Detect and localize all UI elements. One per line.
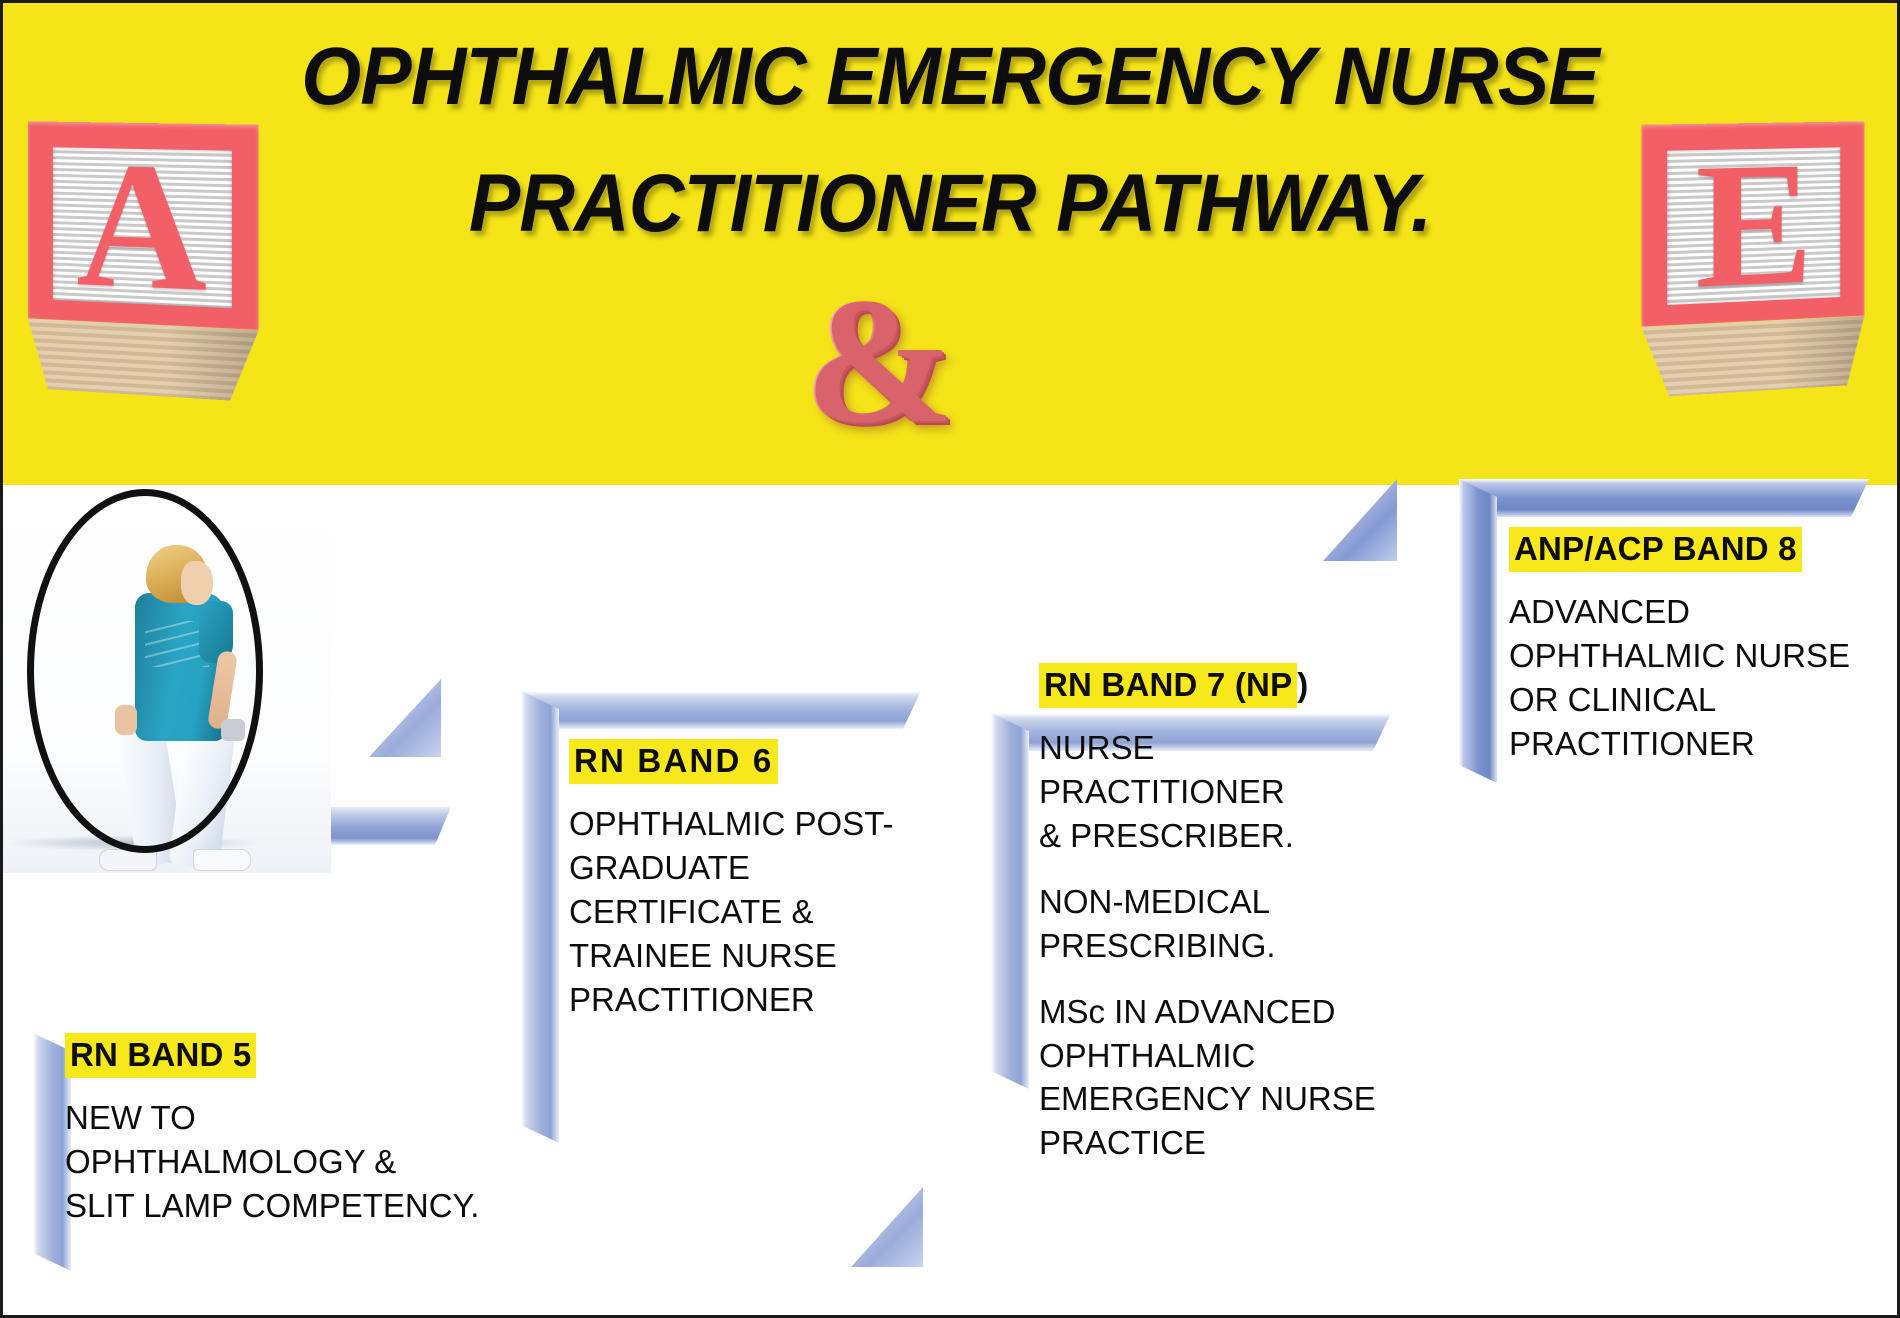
band-7-body-3: MSc IN ADVANCED OPHTHALMIC EMERGENCY NUR… — [1039, 990, 1399, 1166]
nurse-highlight-ellipse — [27, 489, 263, 853]
nurse-shoe-right — [193, 849, 251, 871]
band-7-body-1: NURSE PRACTITIONER & PRESCRIBER. — [1039, 726, 1399, 858]
band-5-label: RN BAND 5 — [65, 1033, 256, 1078]
band-6-bracket-left-arm — [521, 691, 559, 1143]
block-a-face: A — [28, 121, 259, 330]
band-7-label-row: RN BAND 7 (NP) — [1039, 663, 1399, 708]
band-7-bracket-left-arm — [991, 713, 1029, 1089]
block-a-inner-panel: A — [52, 147, 232, 308]
step-band-8: ANP/ACP BAND 8 ADVANCED OPHTHALMIC NURSE… — [1509, 527, 1879, 766]
step-band-7: RN BAND 7 (NP) NURSE PRACTITIONER & PRES… — [1039, 663, 1399, 1165]
block-e-inner-panel: E — [1667, 147, 1841, 305]
band-8-bracket-top-arm — [1459, 479, 1869, 517]
band-7-body-2: NON-MEDICAL PRESCRIBING. — [1039, 880, 1399, 968]
riser-triangle-1 — [369, 679, 441, 757]
band-8-body: ADVANCED OPHTHALMIC NURSE OR CLINICAL PR… — [1509, 590, 1879, 766]
pathway-body: RN BAND 5 NEW TO OPHTHALMOLOGY & SLIT LA… — [3, 485, 1897, 1318]
block-e-letter: E — [1695, 151, 1813, 301]
toy-block-a-icon: A — [28, 121, 259, 402]
block-a-letter: A — [76, 151, 207, 305]
band-5-body: NEW TO OPHTHALMOLOGY & SLIT LAMP COMPETE… — [65, 1096, 495, 1228]
band-6-bracket-top-arm — [521, 691, 921, 729]
step-band-6: RN BAND 6 OPHTHALMIC POST- GRADUATE CERT… — [569, 739, 929, 1022]
page-title: OPHTHALMIC EMERGENCY NURSE PRACTITIONER … — [60, 3, 1840, 267]
block-e-wood-side — [1641, 316, 1864, 398]
band-8-label: ANP/ACP BAND 8 — [1509, 527, 1802, 572]
band-7-label-tail: ) — [1297, 666, 1308, 703]
step-band-5: RN BAND 5 NEW TO OPHTHALMOLOGY & SLIT LA… — [65, 1033, 495, 1228]
ampersand-icon: & — [803, 271, 953, 451]
header-banner: OPHTHALMIC EMERGENCY NURSE PRACTITIONER … — [3, 3, 1897, 485]
riser-triangle-3 — [1323, 479, 1397, 561]
band-6-label: RN BAND 6 — [569, 739, 778, 784]
band-8-bracket-left-arm — [1459, 479, 1497, 783]
band-6-body: OPHTHALMIC POST- GRADUATE CERTIFICATE & … — [569, 802, 929, 1021]
block-e-face: E — [1641, 121, 1864, 327]
toy-block-e-icon: E — [1641, 121, 1864, 398]
pathway-figure: OPHTHALMIC EMERGENCY NURSE PRACTITIONER … — [0, 0, 1900, 1318]
band-7-label: RN BAND 7 (NP — [1039, 663, 1297, 708]
riser-triangle-2 — [851, 1187, 923, 1267]
step-connector-stub-1 — [331, 807, 451, 845]
block-a-wood-side — [28, 319, 259, 403]
